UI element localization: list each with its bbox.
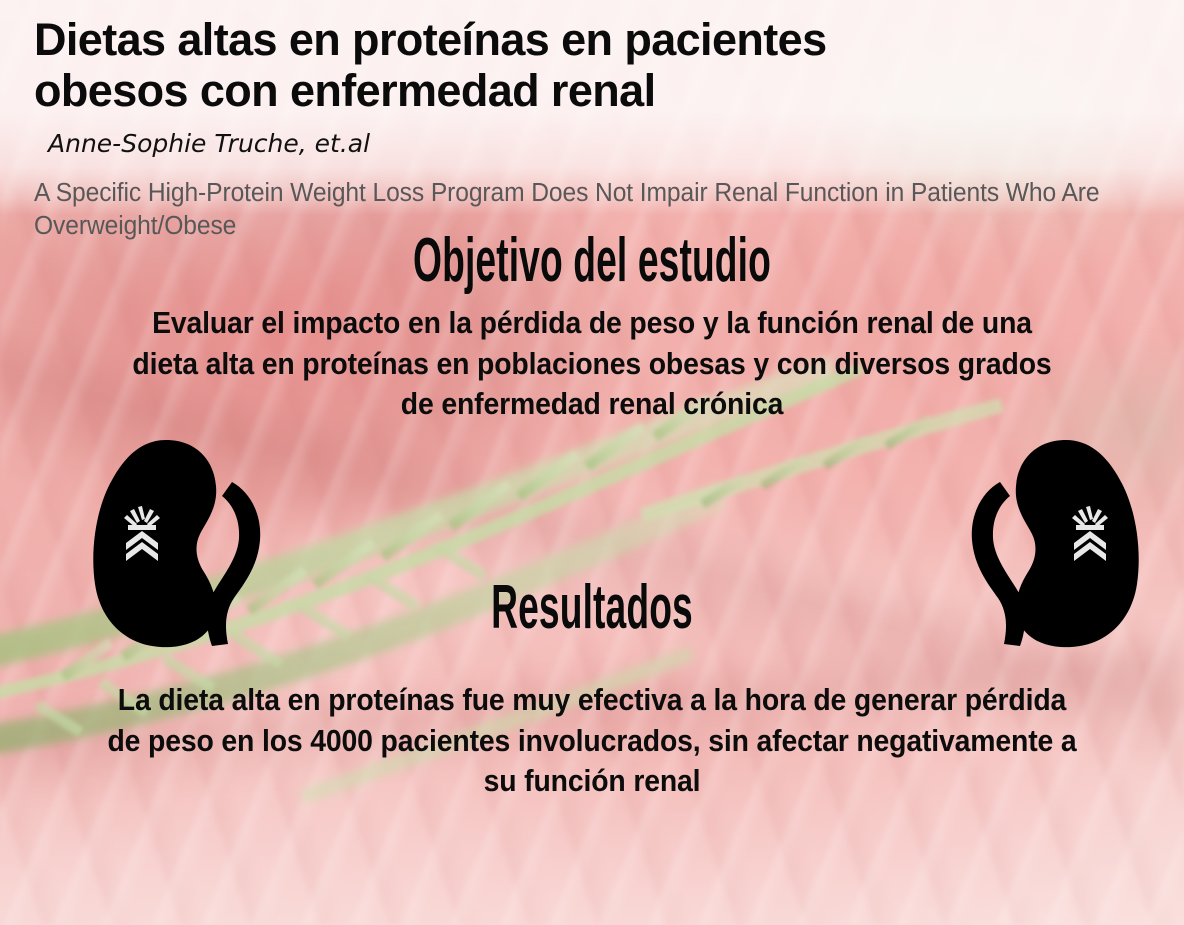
poster-content: Dietas altas en proteínas en pacientesob… — [0, 0, 1184, 925]
section-body-objetivo: Evaluar el impacto en la pérdida de peso… — [127, 303, 1057, 425]
section-heading-objetivo: Objetivo del estudio — [237, 230, 947, 292]
section-body-resultados: La dieta alta en proteínas fue muy efect… — [107, 680, 1078, 802]
title-row: Dietas altas en proteínas en pacientesob… — [34, 14, 1160, 168]
page-title-line-2: obesos con enfermedad renal — [34, 65, 1160, 116]
page-title-line-1: Dietas altas en proteínas en pacientes — [34, 14, 1160, 65]
authors-credit: Anne-Sophie Truche, et.al — [48, 129, 370, 158]
infographic-poster: Dietas altas en proteínas en pacientesob… — [0, 0, 1184, 925]
kidney-icon-right — [962, 438, 1140, 650]
section-heading-resultados: Resultados — [237, 577, 947, 639]
poster-header: Dietas altas en proteínas en pacientesob… — [34, 14, 1160, 243]
page-title: Dietas altas en proteínas en pacientesob… — [34, 14, 1160, 117]
